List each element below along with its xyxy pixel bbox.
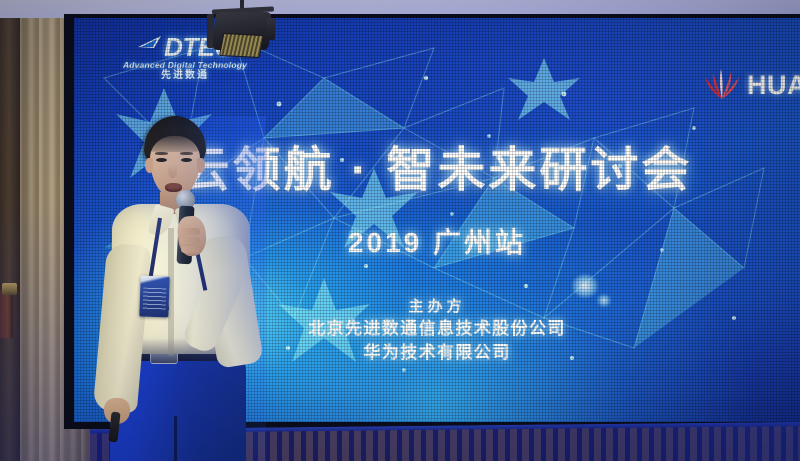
speaker-figure <box>96 116 266 461</box>
spotlight-lens-grid <box>219 33 264 58</box>
speaker-eye-right <box>181 158 192 162</box>
speaker-finger-3 <box>181 246 201 253</box>
speaker-finger-1 <box>180 228 200 235</box>
speaker-eye-left <box>156 158 167 162</box>
speaker-finger-2 <box>180 237 200 244</box>
huawei-wordmark: HUA <box>747 70 800 101</box>
huawei-logo: HUA <box>700 66 800 105</box>
conference-photo-scene: DTEC Advanced Digital Technology 先进数通 HU <box>0 0 800 461</box>
spotlight-adjust-knob <box>266 18 275 40</box>
badge-text-lines <box>143 288 167 311</box>
ceiling-spotlight <box>200 0 280 66</box>
speaker-ear-right <box>197 158 205 173</box>
speaker-ear-left <box>145 158 153 173</box>
speaker-eyebrow-right <box>180 152 193 155</box>
speaker-nose <box>168 164 177 178</box>
trouser-seam <box>174 416 177 461</box>
screen-light-bloom-secondary <box>572 274 598 298</box>
speaker-eyebrow-left <box>155 152 168 155</box>
dtec-mark-icon <box>137 35 163 59</box>
huawei-flower-icon <box>700 66 744 105</box>
dtec-chinese-name: 先进数通 <box>120 71 250 81</box>
